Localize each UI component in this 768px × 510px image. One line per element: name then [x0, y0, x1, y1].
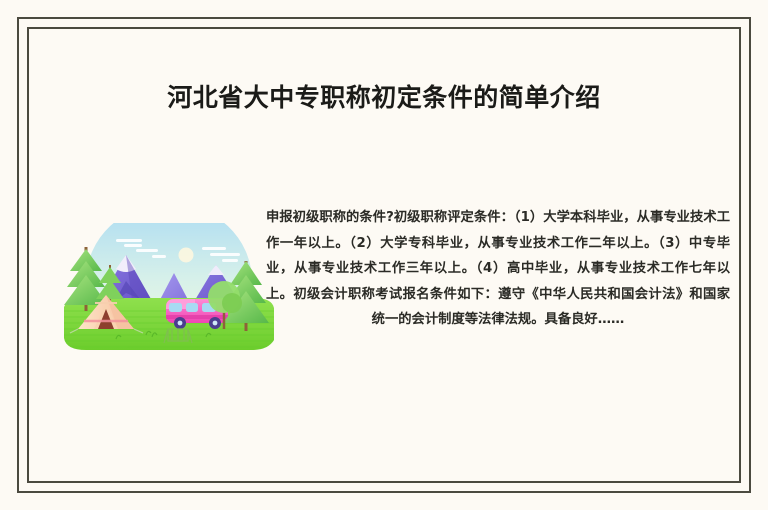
camping-scene-svg [56, 203, 282, 355]
van-window-mid [186, 303, 198, 312]
van-window-front [169, 303, 182, 312]
article-content: 申报初级职称的条件?初级职称评定条件：（1）大学本科毕业，从事专业技术工作一年以… [40, 195, 730, 425]
sun-icon [179, 248, 194, 263]
article-page: 河北省大中专职称初定条件的简单介绍 [0, 0, 768, 510]
page-title: 河北省大中专职称初定条件的简单介绍 [0, 78, 768, 114]
campfire-grill [164, 329, 192, 343]
camping-scene-illustration [56, 203, 282, 355]
article-body-text: 申报初级职称的条件?初级职称评定条件：（1）大学本科毕业，从事专业技术工作一年以… [266, 205, 730, 333]
